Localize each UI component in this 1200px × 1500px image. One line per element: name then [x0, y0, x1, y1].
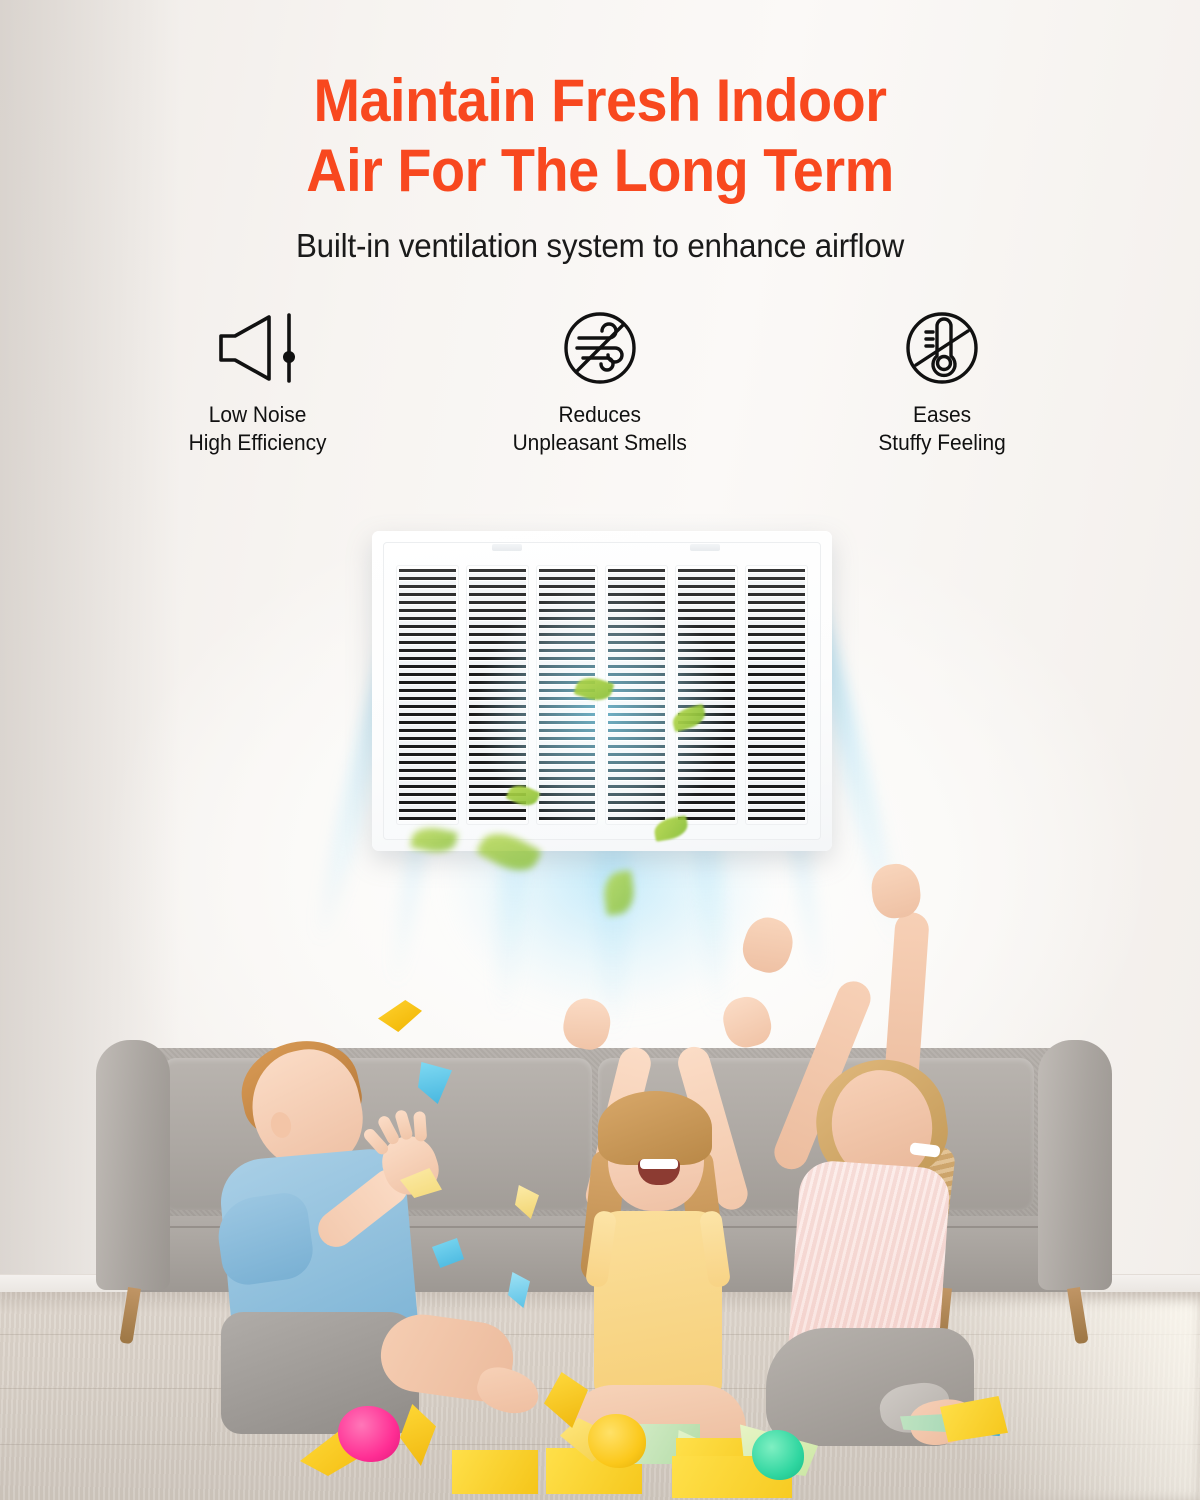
vent-panel [675, 565, 738, 825]
feature-label-line-2: Stuffy Feeling [878, 429, 1005, 457]
feature-label-line-1: Low Noise [189, 401, 327, 429]
child-boy-left [215, 1050, 505, 1450]
sofa-leg [119, 1287, 141, 1344]
child-girl-right [760, 960, 1040, 1450]
girl-middle-hair [598, 1091, 712, 1165]
headline-line-2: Air For The Long Term [42, 136, 1158, 206]
girl-middle-teeth [640, 1159, 678, 1169]
feature-label: Low Noise High Efficiency [189, 401, 327, 457]
feature-label: Reduces Unpleasant Smells [513, 401, 687, 457]
vent-latch-tab [690, 544, 720, 551]
speaker-volume-slider-icon [211, 307, 305, 389]
no-heat-thermometer-icon [899, 307, 985, 389]
vent-panel [605, 565, 668, 825]
feature-low-noise: Low Noise High Efficiency [143, 307, 373, 457]
feature-label-line-1: Reduces [513, 401, 687, 429]
vent-panel [745, 565, 808, 825]
crumpled-paper-ball [588, 1414, 646, 1468]
vent-panel [396, 565, 459, 825]
crumpled-paper-ball [752, 1430, 804, 1480]
feature-label: Eases Stuffy Feeling [878, 401, 1005, 457]
vent-latch-tab [492, 544, 522, 551]
no-odor-wind-icon [557, 307, 643, 389]
page-subtitle: Built-in ventilation system to enhance a… [30, 227, 1170, 265]
feature-label-line-2: High Efficiency [189, 429, 327, 457]
feature-label-line-2: Unpleasant Smells [513, 429, 687, 457]
marketing-header: Maintain Fresh Indoor Air For The Long T… [0, 0, 1200, 500]
feature-label-line-1: Eases [878, 401, 1005, 429]
page-title: Maintain Fresh Indoor Air For The Long T… [42, 66, 1158, 205]
feature-list: Low Noise High Efficiency Reduces Unplea… [0, 307, 1200, 457]
sofa-leg [1067, 1287, 1089, 1344]
crumpled-paper-ball [338, 1406, 400, 1462]
feature-reduces-smells: Reduces Unpleasant Smells [485, 307, 715, 457]
sofa-arm-left [96, 1040, 170, 1290]
headline-line-1: Maintain Fresh Indoor [42, 66, 1158, 136]
floor-paper [452, 1450, 538, 1494]
feature-eases-stuffy: Eases Stuffy Feeling [827, 307, 1057, 457]
sofa-arm-right [1038, 1040, 1112, 1290]
